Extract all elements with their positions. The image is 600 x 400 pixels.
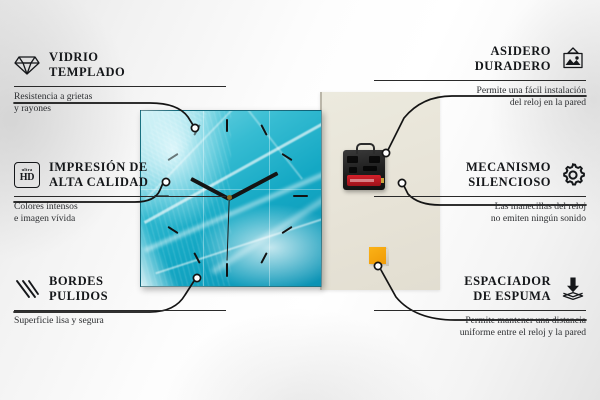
hour-marker [293,195,308,197]
mechanism-slot [349,167,357,173]
feature-header: VIDRIO TEMPLADO [14,50,226,81]
feature-header: ultra HD IMPRESIÓN DE ALTA CALIDAD [14,160,226,191]
feature-description: Resistencia a grietas y rayones [14,91,226,116]
hour-marker [260,252,267,264]
divider [14,86,226,87]
feature-espaciador-de-espuma: ESPACIADOR DE ESPUMA Permite mantener un… [374,274,586,340]
feature-title: ESPACIADOR DE ESPUMA [464,274,551,305]
hanger-hook-icon [356,143,375,154]
feature-title: VIDRIO TEMPLADO [49,50,125,81]
feature-description: Colores intensos e imagen vívida [14,201,226,226]
hour-marker [260,124,267,136]
feature-description: Permite una fácil instalación del reloj … [374,85,586,110]
battery-label [350,179,374,182]
divider [374,310,586,311]
hour-marker [226,119,228,132]
polished-edges-icon [14,276,40,302]
divider [374,80,586,81]
center-cap [227,195,232,200]
divider [374,196,586,197]
feature-description: Superficie lisa y segura [14,315,226,328]
divider [14,196,226,197]
feature-title: ASIDERO DURADERO [475,44,551,75]
feature-header: BORDES PULIDOS [14,274,226,305]
picture-hanger-icon [560,46,586,72]
feature-title: BORDES PULIDOS [49,274,108,305]
ultra-hd-badge-icon: ultra HD [14,162,40,188]
diamond-icon [14,52,40,78]
feature-header: ASIDERO DURADERO [374,44,586,75]
foam-spacer [369,247,386,264]
feature-title: IMPRESIÓN DE ALTA CALIDAD [49,160,148,191]
feature-vidrio-templado: VIDRIO TEMPLADO Resistencia a grietas y … [14,50,226,116]
feature-impresion-alta-calidad: ultra HD IMPRESIÓN DE ALTA CALIDAD Color… [14,160,226,226]
divider [14,310,226,311]
gear-icon [560,162,586,188]
feature-header: MECANISMO SILENCIOSO [374,160,586,191]
infographic-canvas: VIDRIO TEMPLADO Resistencia a grietas y … [0,0,600,400]
feature-description: Permite mantener una distancia uniforme … [374,315,586,340]
feature-title: MECANISMO SILENCIOSO [466,160,551,191]
hour-marker [226,263,228,277]
mechanism-slot [347,156,358,163]
glass-seam [269,111,270,286]
feature-header: ESPACIADOR DE ESPUMA [374,274,586,305]
feature-asidero-duradero: ASIDERO DURADERO Permite una fácil insta… [374,44,586,110]
badge-main-text: HD [20,173,35,183]
foam-spacer-icon [560,276,586,302]
feature-bordes-pulidos: BORDES PULIDOS Superficie lisa y segura [14,274,226,327]
feature-mecanismo-silencioso: MECANISMO SILENCIOSO Las manecillas del … [374,160,586,226]
feature-description: Las manecillas del reloj no emiten ningú… [374,201,586,226]
